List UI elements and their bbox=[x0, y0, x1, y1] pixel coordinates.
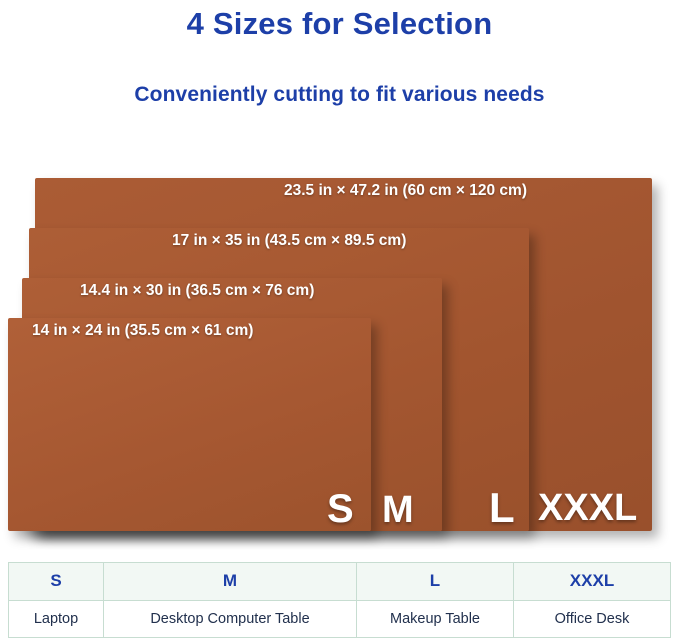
page-title: 4 Sizes for Selection bbox=[0, 6, 679, 42]
legend-header-m: M bbox=[104, 563, 357, 600]
dimension-label-m: 14.4 in × 30 in (36.5 cm × 76 cm) bbox=[80, 282, 314, 300]
legend-header-l: L bbox=[357, 563, 514, 600]
size-letter-m: M bbox=[382, 491, 414, 529]
size-letter-xxxl: XXXL bbox=[538, 489, 637, 527]
legend-value-s: Laptop bbox=[9, 601, 104, 638]
legend-header-row: S M L XXXL bbox=[9, 563, 670, 600]
product-size-chart: 4 Sizes for Selection Conveniently cutti… bbox=[0, 0, 679, 644]
size-legend-table: S M L XXXL Laptop Desktop Computer Table… bbox=[8, 562, 671, 638]
legend-value-l: Makeup Table bbox=[357, 601, 514, 638]
dimension-label-xxxl: 23.5 in × 47.2 in (60 cm × 120 cm) bbox=[284, 182, 527, 200]
size-letter-s: S bbox=[327, 489, 354, 529]
dimension-label-l: 17 in × 35 in (43.5 cm × 89.5 cm) bbox=[172, 232, 406, 250]
legend-value-xxxl: Office Desk bbox=[514, 601, 670, 638]
legend-value-m: Desktop Computer Table bbox=[104, 601, 357, 638]
mat-s bbox=[8, 318, 371, 531]
legend-value-row: Laptop Desktop Computer Table Makeup Tab… bbox=[9, 600, 670, 638]
legend-header-xxxl: XXXL bbox=[514, 563, 670, 600]
page-subtitle: Conveniently cutting to fit various need… bbox=[0, 83, 679, 107]
size-letter-l: L bbox=[489, 487, 515, 529]
legend-header-s: S bbox=[9, 563, 104, 600]
dimension-label-s: 14 in × 24 in (35.5 cm × 61 cm) bbox=[32, 322, 253, 340]
